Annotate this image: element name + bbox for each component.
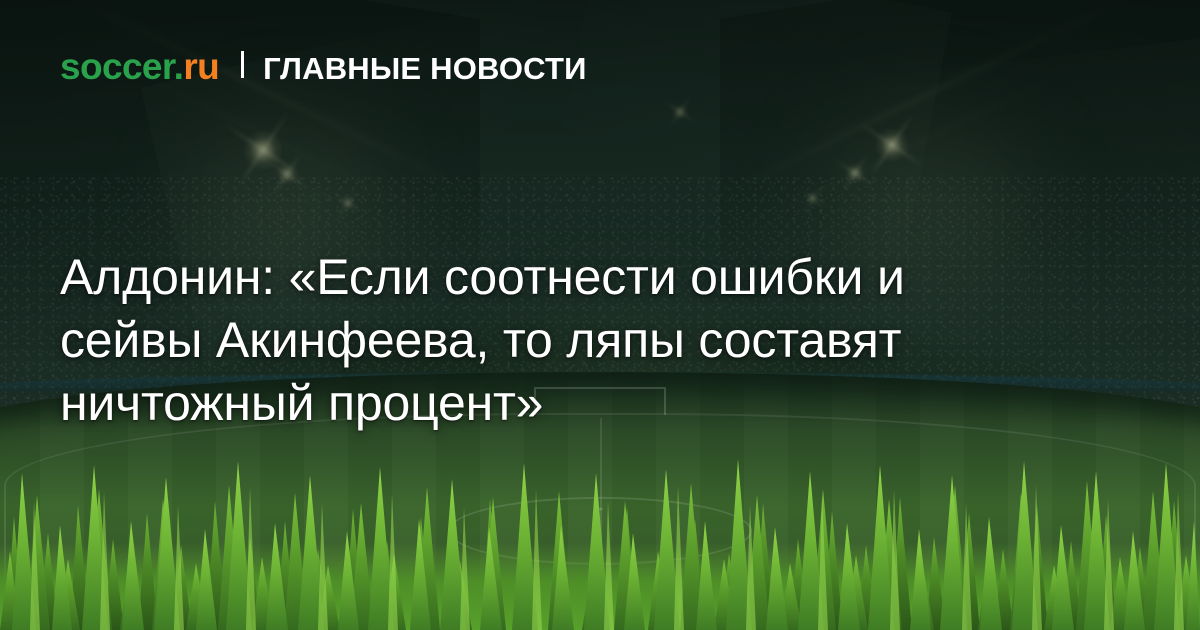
headline-line-3: ничтожный процент» [60,372,1145,435]
logo-text-dot: . [174,46,184,87]
social-share-card: soccer.ru ГЛАВНЫЕ НОВОСТИ Алдонин: «Если… [0,0,1200,630]
logo-text-ru: ru [183,46,219,87]
headline-line-2: сейвы Акинфеева, то ляпы составят [60,309,1145,372]
logo-text-soccer: soccer [60,46,174,87]
headline-title: Алдонин: «Если соотнести ошибки и сейвы … [60,246,1145,435]
header-kicker-label: ГЛАВНЫЕ НОВОСТИ [263,53,586,84]
header-divider [241,51,244,78]
headline-line-1: Алдонин: «Если соотнести ошибки и [60,246,1145,309]
card-header: soccer.ru ГЛАВНЫЕ НОВОСТИ [60,48,587,85]
site-logo[interactable]: soccer.ru [60,48,219,85]
